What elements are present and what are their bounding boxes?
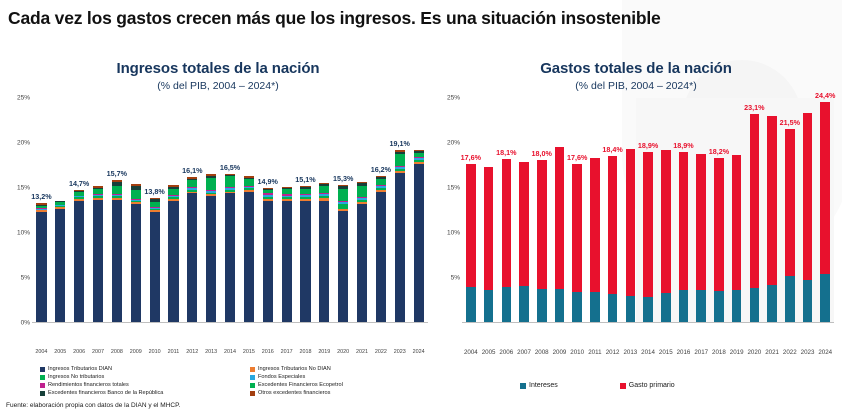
x-tick-label: 2014 [639,349,657,356]
bar-segment [150,212,160,322]
bar-segment [484,167,494,289]
bar-segment [696,290,706,322]
legend-swatch [520,383,526,389]
legend-swatch [40,375,45,380]
data-label: 17,6% [461,153,481,162]
bar-segment [643,152,653,297]
x-tick-label: 2024 [816,349,834,356]
chart-title-gastos: Gastos totales de la nación [436,60,836,77]
bar-segment [519,162,529,286]
stacked-bar[interactable] [376,176,386,322]
legend-swatch [250,367,255,372]
legend-label: Intereses [529,382,558,389]
legend-label: Excedentes Financieros Ecopetrol [258,382,343,388]
bar-slot[interactable]: 24,4% [816,98,834,322]
bar-segment [414,164,424,322]
bar-slot[interactable]: 13,8% [145,98,164,322]
y-tick-label: 25% [447,95,460,102]
legend-swatch [40,383,45,388]
data-label: 16,1% [182,166,202,175]
bar-segment [187,193,197,322]
stacked-bar[interactable] [225,174,235,323]
bar-slot[interactable]: 18,9% [675,98,693,322]
bar-slot[interactable] [51,98,70,322]
x-tick-label: 2015 [239,349,258,355]
bar-segment [555,289,565,322]
bar-slot[interactable] [239,98,258,322]
stacked-bar[interactable] [319,183,329,322]
x-tick-label: 2013 [621,349,639,356]
stacked-bar[interactable] [187,177,197,322]
legend-label: Otros excedentes financieros [258,390,330,396]
x-tick-label: 2007 [515,349,533,356]
bar-slot[interactable] [89,98,108,322]
legend-item[interactable]: Rendimientos financieros totales [40,382,250,388]
bar-segment [643,297,653,322]
bars-region-ingresos: 13,2%14,7%15,7%13,8%16,1%16,5%14,9%15,1%… [32,98,428,323]
bar-slot[interactable]: 17,6% [568,98,586,322]
data-label: 13,2% [31,192,51,201]
chart-subtitle-gastos: (% del PIB, 2004 – 2024*) [436,80,836,92]
stacked-bar[interactable] [626,149,636,322]
data-label: 21,5% [780,118,800,127]
bar-segment [282,201,292,322]
x-tick-label: 2021 [353,349,372,355]
legend-label: Ingresos Tributarios No DIAN [258,366,331,372]
x-tick-label: 2020 [334,349,353,355]
bar-segment [319,201,329,323]
y-tick-label: 5% [21,275,30,282]
data-label: 18,1% [496,148,516,157]
legend-label: Excedentes financieros Banco de la Repúb… [48,390,163,396]
stacked-bar[interactable] [484,167,494,322]
chart-panel-gastos: Gastos totales de la nación (% del PIB, … [436,60,836,323]
bar-segment [785,276,795,322]
x-tick-label: 2007 [89,349,108,355]
bar-segment [555,147,565,288]
bar-segment [626,296,636,322]
bar-segment [225,176,235,187]
bar-slot[interactable] [315,98,334,322]
bar-segment [820,274,830,322]
stacked-bar[interactable] [263,188,273,322]
bar-segment [187,180,197,187]
stacked-bar[interactable] [555,147,565,322]
y-axis-ingresos: 0%5%10%15%20%25% [6,98,32,323]
x-tick-label: 2019 [315,349,334,355]
data-label: 16,2% [371,165,391,174]
bar-segment [338,189,348,201]
y-tick-label: 10% [447,230,460,237]
legend-swatch [250,391,255,396]
bar-segment [608,294,618,322]
bar-slot[interactable]: 23,1% [746,98,764,322]
stacked-bar[interactable] [502,159,512,322]
bar-segment [74,201,84,323]
data-label: 14,9% [258,177,278,186]
y-tick-label: 25% [17,95,30,102]
bar-slot[interactable]: 18,9% [639,98,657,322]
bar-slot[interactable] [692,98,710,322]
bar-segment [131,190,141,199]
x-tick-label: 2022 [781,349,799,356]
x-tick-label: 2022 [371,349,390,355]
y-tick-label: 10% [17,230,30,237]
stacked-bar[interactable] [395,150,405,322]
bar-segment [732,155,742,290]
bar-segment [466,164,476,287]
stacked-bar[interactable] [590,158,600,322]
legend-swatch [250,375,255,380]
legend-label: Gasto primario [629,382,675,389]
y-tick-label: 5% [451,275,460,282]
page-title: Cada vez los gastos crecen más que los i… [8,8,661,29]
x-tick-label: 2017 [277,349,296,355]
stacked-bar[interactable] [696,154,706,322]
bar-segment [168,201,178,323]
data-label: 23,1% [744,103,764,112]
bar-segment [626,149,636,296]
x-tick-label: 2010 [145,349,164,355]
data-label: 18,2% [709,147,729,156]
stacked-bar[interactable] [661,150,671,322]
legend-label: Ingresos Tributarios DIAN [48,366,112,372]
x-tick-label: 2018 [296,349,315,355]
bar-slot[interactable] [586,98,604,322]
bar-segment [679,290,689,322]
stacked-bar[interactable] [414,150,424,322]
bar-segment [206,178,216,190]
stacked-bar[interactable] [131,184,141,322]
data-label: 19,1% [390,139,410,148]
stacked-bar[interactable] [608,156,618,322]
bar-slot[interactable]: 15,3% [334,98,353,322]
bar-segment [590,292,600,322]
bar-segment [608,156,618,294]
bar-segment [767,285,777,322]
x-tick-label: 2018 [710,349,728,356]
bar-slot[interactable] [515,98,533,322]
bar-segment [661,293,671,322]
x-tick-label: 2006 [70,349,89,355]
y-tick-label: 15% [447,185,460,192]
stacked-bar[interactable] [679,152,689,322]
bar-segment [590,158,600,292]
x-tick-label: 2019 [728,349,746,356]
x-tick-label: 2008 [533,349,551,356]
bar-segment [750,114,760,288]
bar-segment [750,288,760,322]
bar-segment [714,291,724,323]
x-tick-label: 2013 [202,349,221,355]
bar-slot[interactable]: 16,2% [371,98,390,322]
bar-segment [225,193,235,322]
bar-segment [131,204,141,322]
legend-label: Ingresos No tributarios [48,374,104,380]
bar-slot[interactable]: 14,9% [258,98,277,322]
bar-slot[interactable]: 16,5% [221,98,240,322]
data-label: 18,9% [638,141,658,150]
stacked-bar[interactable] [93,186,103,322]
bar-segment [357,186,367,197]
bar-segment [732,290,742,322]
bar-segment [112,200,122,322]
data-label: 15,3% [333,174,353,183]
y-tick-label: 15% [17,185,30,192]
data-label: 18,9% [673,141,693,150]
bar-segment [319,186,329,193]
bar-segment [338,211,348,322]
x-tick-label: 2021 [763,349,781,356]
bar-segment [263,201,273,322]
bar-segment [661,150,671,293]
bar-segment [395,173,405,322]
bar-slot[interactable] [728,98,746,322]
bar-segment [244,192,254,323]
bar-slot[interactable]: 15,7% [107,98,126,322]
bar-segment [572,164,582,293]
stacked-bar[interactable] [519,162,529,322]
chart-title-ingresos: Ingresos totales de la nación [6,60,430,77]
data-label: 18,0% [532,149,552,158]
bar-segment [300,201,310,322]
x-tick-label: 2011 [586,349,604,356]
legend-item[interactable]: Ingresos Tributarios No DIAN [250,366,400,372]
x-tick-label: 2020 [746,349,764,356]
legend-item[interactable]: Excedentes financieros Banco de la Repúb… [40,390,250,396]
x-tick-label: 2008 [107,349,126,355]
stacked-bar[interactable] [244,176,254,322]
bar-segment [572,292,582,322]
bar-segment [803,280,813,322]
bar-segment [357,204,367,322]
bar-slot[interactable] [409,98,428,322]
x-tick-label: 2014 [221,349,240,355]
bar-segment [537,160,547,289]
bar-slot[interactable] [164,98,183,322]
legend-label: Fondos Especiales [258,374,305,380]
bar-segment [484,290,494,322]
legend-swatch [40,391,45,396]
stacked-bar[interactable] [55,201,65,323]
stacked-bar[interactable] [732,155,742,322]
bar-slot[interactable] [353,98,372,322]
bar-segment [502,159,512,287]
bar-segment [36,212,46,322]
bar-slot[interactable] [551,98,569,322]
legend-swatch [250,383,255,388]
bar-slot[interactable]: 13,2% [32,98,51,322]
stacked-bar[interactable] [466,164,476,322]
legend-item[interactable]: Ingresos Tributarios DIAN [40,366,250,372]
bar-slot[interactable]: 18,4% [604,98,622,322]
bar-segment [376,192,386,323]
stacked-bar[interactable] [300,186,310,322]
x-tick-label: 2011 [164,349,183,355]
y-tick-label: 20% [447,140,460,147]
data-label: 13,8% [144,187,164,196]
y-tick-label: 0% [21,320,30,327]
x-axis-ingresos: 2004200520062007200820092010201120122013… [32,349,428,355]
bar-segment [502,287,512,322]
bar-slot[interactable] [657,98,675,322]
data-label: 17,6% [567,153,587,162]
stacked-bar[interactable] [338,185,348,322]
x-tick-label: 2023 [390,349,409,355]
stacked-bar[interactable] [36,203,46,322]
x-tick-label: 2016 [258,349,277,355]
bar-segment [803,113,813,280]
stacked-bar[interactable] [643,152,653,322]
x-tick-label: 2023 [799,349,817,356]
bar-slot[interactable] [799,98,817,322]
bar-slot[interactable]: 15,1% [296,98,315,322]
bar-segment [244,179,254,186]
bar-segment [679,152,689,290]
x-axis-gastos: 2004200520062007200820092010201120122013… [462,349,834,356]
x-tick-label: 2010 [568,349,586,356]
source-note: Fuente: elaboración propia con datos de … [6,402,180,409]
legend-swatch [40,367,45,372]
x-tick-label: 2012 [183,349,202,355]
x-tick-label: 2024 [409,349,428,355]
data-label: 15,7% [107,169,127,178]
stacked-bar[interactable] [357,182,367,322]
data-label: 14,7% [69,179,89,188]
plot-area-gastos: 5%10%15%20%25% 17,6%18,1%18,0%17,6%18,4%… [436,98,836,323]
bar-slot[interactable]: 18,0% [533,98,551,322]
bar-slot[interactable] [126,98,145,322]
stacked-bar[interactable] [572,164,582,322]
y-axis-gastos: 5%10%15%20%25% [436,98,462,323]
bar-segment [112,186,122,194]
legend-label: Rendimientos financieros totales [48,382,129,388]
legend-swatch [620,383,626,389]
x-tick-label: 2006 [497,349,515,356]
legend-item[interactable]: Intereses [520,382,558,389]
plot-area-ingresos: 0%5%10%15%20%25% 13,2%14,7%15,7%13,8%16,… [6,98,430,323]
bar-segment [820,102,830,274]
stacked-bar[interactable] [206,174,216,322]
bar-slot[interactable] [480,98,498,322]
legend-gastos: InteresesGasto primario [520,382,780,389]
bar-segment [714,158,724,290]
stacked-bar[interactable] [112,180,122,322]
bar-segment [395,154,405,166]
x-tick-label: 2012 [604,349,622,356]
bar-slot[interactable]: 18,1% [497,98,515,322]
legend-item[interactable]: Gasto primario [620,382,675,389]
x-tick-label: 2009 [126,349,145,355]
legend-item[interactable]: Ingresos No tributarios [40,374,250,380]
bar-slot[interactable] [277,98,296,322]
bar-segment [55,209,65,322]
bar-segment [519,286,529,322]
bar-segment [466,287,476,322]
bar-slot[interactable]: 19,1% [390,98,409,322]
x-tick-label: 2005 [480,349,498,356]
bar-segment [696,154,706,290]
chart-panel-ingresos: Ingresos totales de la nación (% del PIB… [6,60,430,323]
x-tick-label: 2015 [657,349,675,356]
data-label: 18,4% [602,145,622,154]
x-tick-label: 2016 [675,349,693,356]
y-tick-label: 20% [17,140,30,147]
x-tick-label: 2005 [51,349,70,355]
legend-item[interactable]: Excedentes Financieros Ecopetrol [250,382,400,388]
legend-item[interactable]: Otros excedentes financieros [250,390,400,396]
bar-slot[interactable]: 17,6% [462,98,480,322]
stacked-bar[interactable] [785,129,795,323]
stacked-bar[interactable] [803,113,813,322]
x-tick-label: 2017 [692,349,710,356]
bar-slot[interactable]: 21,5% [781,98,799,322]
stacked-bar[interactable] [282,187,292,322]
stacked-bar[interactable] [168,185,178,322]
x-tick-label: 2009 [551,349,569,356]
stacked-bar[interactable] [750,114,760,322]
stacked-bar[interactable] [820,102,830,322]
bar-segment [537,289,547,322]
data-label: 24,4% [815,91,835,100]
chart-subtitle-ingresos: (% del PIB, 2004 – 2024*) [6,80,430,92]
bar-segment [206,196,216,322]
bar-slot[interactable] [621,98,639,322]
stacked-bar[interactable] [150,198,160,322]
data-label: 15,1% [295,175,315,184]
bar-segment [767,116,777,285]
stacked-bar[interactable] [767,116,777,322]
bar-slot[interactable] [763,98,781,322]
bar-segment [93,200,103,322]
bars-region-gastos: 17,6%18,1%18,0%17,6%18,4%18,9%18,9%18,2%… [462,98,834,323]
legend-item[interactable]: Fondos Especiales [250,374,400,380]
x-tick-label: 2004 [32,349,51,355]
bar-slot[interactable]: 18,2% [710,98,728,322]
stacked-bar[interactable] [537,160,547,322]
x-tick-label: 2004 [462,349,480,356]
bar-slot[interactable] [202,98,221,322]
bar-segment [785,129,795,277]
bar-slot[interactable]: 14,7% [70,98,89,322]
bar-slot[interactable]: 16,1% [183,98,202,322]
data-label: 16,5% [220,163,240,172]
stacked-bar[interactable] [74,190,84,322]
stacked-bar[interactable] [714,158,724,322]
legend-ingresos: Ingresos Tributarios DIANIngresos Tribut… [40,366,400,396]
